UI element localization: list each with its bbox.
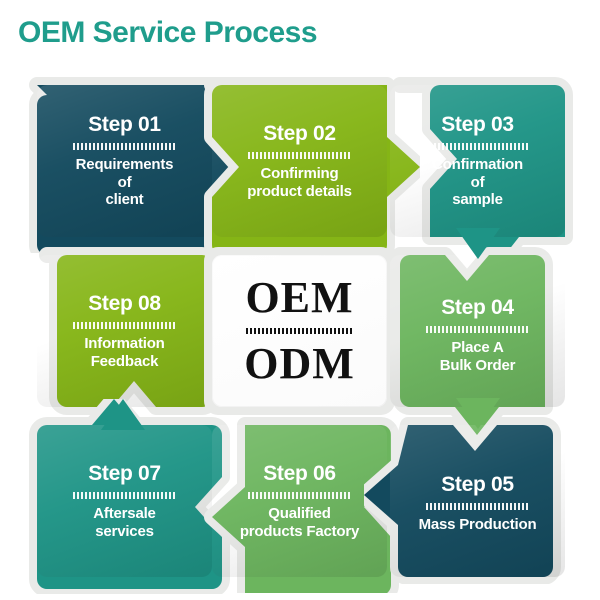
step-01-desc: Requirements of client (72, 156, 178, 209)
process-steps-grid: Step 01 Requirements of client Step 02 C… (0, 60, 600, 590)
step-02-label: Step 02 (263, 122, 336, 145)
step-06-divider (248, 492, 352, 499)
step-card-step-08[interactable]: Step 08 Information Feedback (37, 255, 212, 407)
oem-odm-content: OEM ODM (212, 255, 387, 407)
step-03-divider (426, 143, 530, 150)
step-05-label: Step 05 (441, 473, 514, 496)
step-05-divider (426, 503, 530, 510)
odm-text: ODM (244, 342, 355, 386)
step-01-desc-line-2: of (76, 174, 174, 192)
step-07-content: Step 07 Aftersale services (37, 425, 212, 577)
step-03-label: Step 03 (441, 113, 514, 136)
step-03-desc-line-1: Confirmation (432, 156, 523, 174)
step-card-step-01[interactable]: Step 01 Requirements of client (37, 85, 212, 237)
step-01-divider (73, 143, 177, 150)
step-04-label: Step 04 (441, 296, 514, 319)
step-05-desc-line-1: Mass Production (419, 516, 537, 534)
step-07-desc-line-2: services (93, 523, 155, 541)
connector-step03-to-step04 (455, 227, 501, 261)
connector-step08-to-step07 (100, 397, 146, 431)
step-06-desc-line-2: products Factory (240, 523, 359, 541)
step-05-desc: Mass Production (415, 516, 541, 534)
step-05-content: Step 05 Mass Production (390, 425, 565, 577)
step-06-content: Step 06 Qualified products Factory (212, 425, 387, 577)
step-02-desc-line-2: product details (247, 183, 352, 201)
step-06-label: Step 06 (263, 462, 336, 485)
oem-service-process-infographic: OEM Service Process Step 01 Requirements… (0, 0, 600, 600)
step-03-desc: Confirmation of sample (428, 156, 527, 209)
oem-text: OEM (245, 276, 353, 320)
step-02-divider (248, 152, 352, 159)
step-02-desc: Confirming product details (243, 165, 356, 200)
step-04-desc-line-2: Bulk Order (440, 357, 516, 375)
step-04-desc-line-1: Place A (440, 339, 516, 357)
step-08-desc-line-2: Feedback (84, 353, 164, 371)
step-02-content: Step 02 Confirming product details (212, 85, 387, 237)
step-07-desc-line-1: Aftersale (93, 505, 155, 523)
step-03-desc-line-3: sample (432, 191, 523, 209)
step-03-content: Step 03 Confirmation of sample (390, 85, 565, 237)
step-02-desc-line-1: Confirming (247, 165, 352, 183)
step-08-label: Step 08 (88, 292, 161, 315)
step-08-content: Step 08 Information Feedback (37, 255, 212, 407)
step-04-divider (426, 326, 530, 333)
step-01-content: Step 01 Requirements of client (37, 85, 212, 237)
step-06-desc: Qualified products Factory (236, 505, 363, 540)
page-title: OEM Service Process (18, 16, 317, 50)
step-07-desc: Aftersale services (89, 505, 159, 540)
step-01-label: Step 01 (88, 113, 161, 136)
step-card-step-04[interactable]: Step 04 Place A Bulk Order (390, 255, 565, 407)
step-card-step-06[interactable]: Step 06 Qualified products Factory (212, 425, 387, 577)
step-card-step-07[interactable]: Step 07 Aftersale services (37, 425, 212, 577)
oem-odm-divider (246, 328, 354, 334)
step-card-step-02[interactable]: Step 02 Confirming product details (212, 85, 387, 237)
step-card-step-05[interactable]: Step 05 Mass Production (390, 425, 565, 577)
step-08-desc: Information Feedback (80, 335, 168, 370)
step-07-label: Step 07 (88, 462, 161, 485)
step-03-desc-line-2: of (432, 174, 523, 192)
step-01-desc-line-1: Requirements (76, 156, 174, 174)
step-06-desc-line-1: Qualified (240, 505, 359, 523)
step-04-content: Step 04 Place A Bulk Order (390, 255, 565, 407)
connector-step04-to-step05 (455, 397, 501, 431)
step-card-step-03[interactable]: Step 03 Confirmation of sample (390, 85, 565, 237)
step-08-divider (73, 322, 177, 329)
step-07-divider (73, 492, 177, 499)
step-08-desc-line-1: Information (84, 335, 164, 353)
step-01-desc-line-3: client (76, 191, 174, 209)
oem-odm-center-card[interactable]: OEM ODM (212, 255, 387, 407)
step-04-desc: Place A Bulk Order (436, 339, 520, 374)
